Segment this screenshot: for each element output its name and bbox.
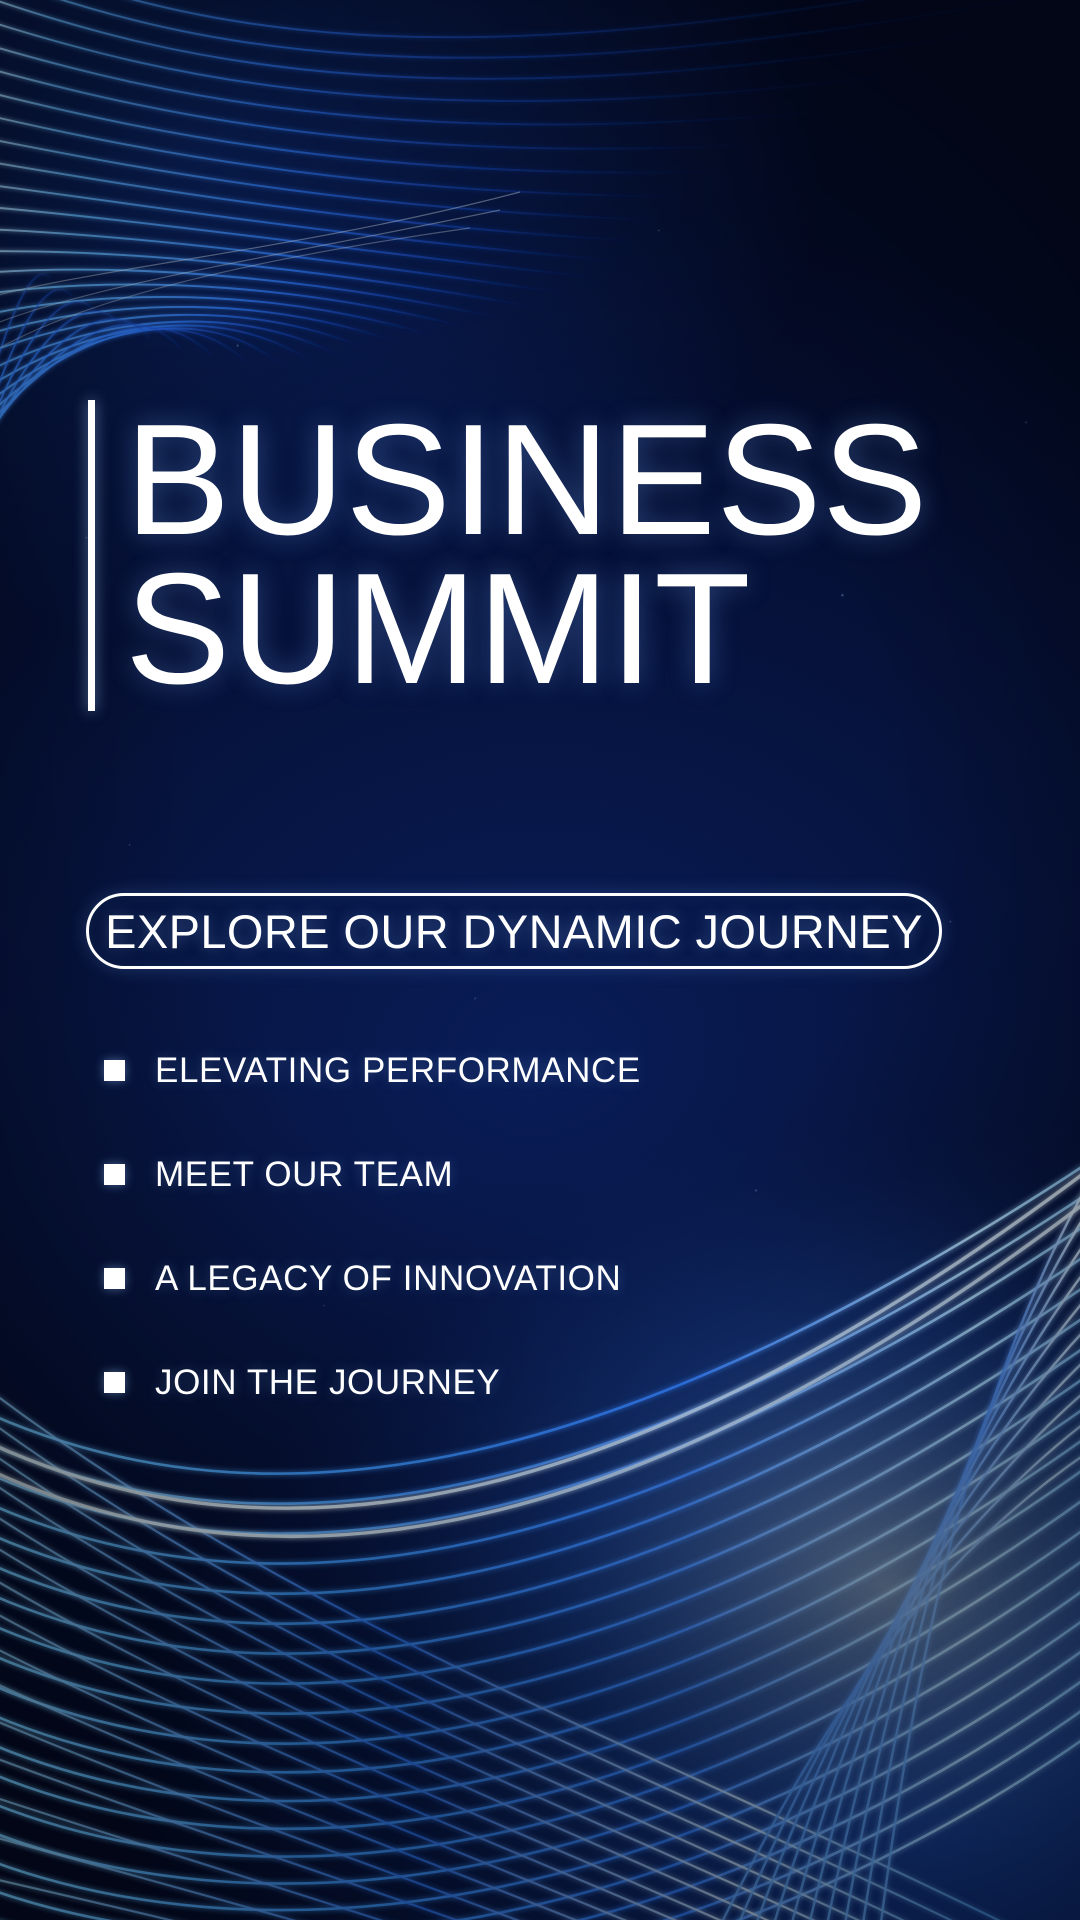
title-text-group: BUSINESS SUMMIT xyxy=(125,400,928,711)
agenda-list: ELEVATING PERFORMANCE MEET OUR TEAM A LE… xyxy=(104,1018,944,1434)
explore-journey-button[interactable]: EXPLORE OUR DYNAMIC JOURNEY xyxy=(86,893,942,969)
title-accent-bar xyxy=(88,400,95,711)
list-item[interactable]: A LEGACY OF INNOVATION xyxy=(104,1226,944,1330)
poster-content: BUSINESS SUMMIT EXPLORE OUR DYNAMIC JOUR… xyxy=(0,0,1080,1920)
list-item-label: MEET OUR TEAM xyxy=(155,1157,453,1192)
list-item[interactable]: JOIN THE JOURNEY xyxy=(104,1330,944,1434)
square-bullet-icon xyxy=(104,1268,125,1289)
title-line-2: SUMMIT xyxy=(125,555,928,704)
square-bullet-icon xyxy=(104,1164,125,1185)
square-bullet-icon xyxy=(104,1372,125,1393)
list-item[interactable]: MEET OUR TEAM xyxy=(104,1122,944,1226)
page-title: BUSINESS SUMMIT xyxy=(88,400,928,711)
list-item-label: ELEVATING PERFORMANCE xyxy=(155,1053,641,1088)
list-item[interactable]: ELEVATING PERFORMANCE xyxy=(104,1018,944,1122)
square-bullet-icon xyxy=(104,1060,125,1081)
explore-journey-button-label: EXPLORE OUR DYNAMIC JOURNEY xyxy=(105,908,923,955)
poster-canvas: BUSINESS SUMMIT EXPLORE OUR DYNAMIC JOUR… xyxy=(0,0,1080,1920)
list-item-label: A LEGACY OF INNOVATION xyxy=(155,1261,621,1296)
title-line-1: BUSINESS xyxy=(125,406,928,555)
list-item-label: JOIN THE JOURNEY xyxy=(155,1365,500,1400)
